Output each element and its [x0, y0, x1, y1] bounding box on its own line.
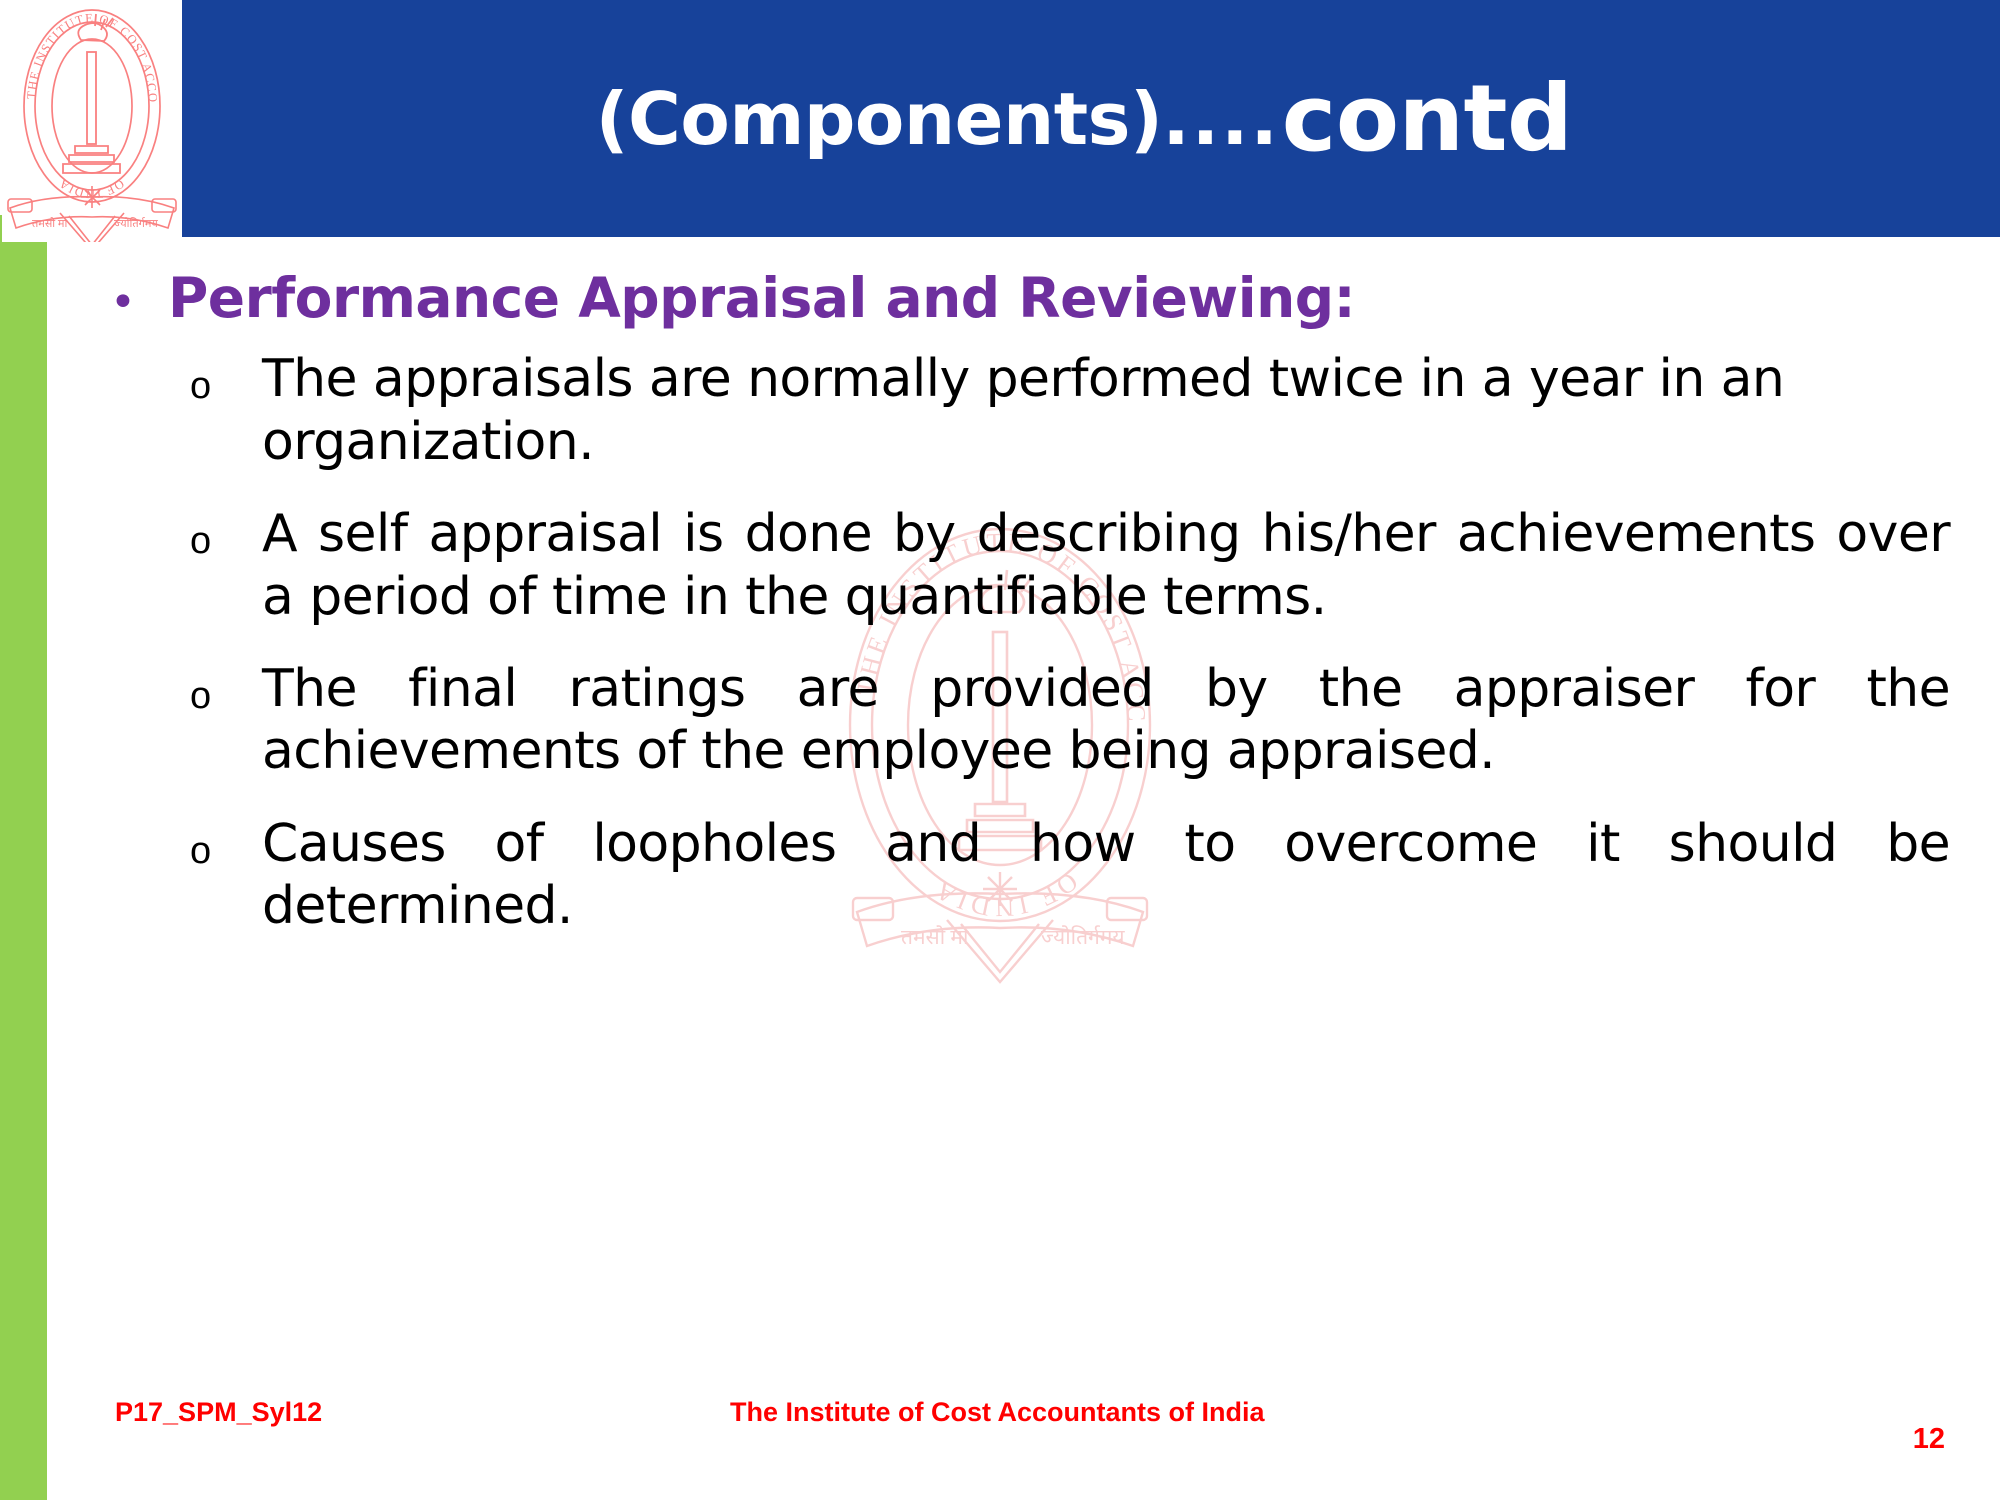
slide-footer: P17_SPM_Syl12 The Institute of Cost Acco… — [0, 1375, 2000, 1500]
bullet-circle-icon: o — [190, 658, 262, 719]
slide-title-main: (Components) — [596, 83, 1163, 155]
slide-body: • Performance Appraisal and Reviewing: o… — [0, 237, 2000, 1377]
svg-text:तमसो मा: तमसो मा — [32, 217, 67, 230]
footer-page-number: 12 — [1913, 1423, 1945, 1456]
bullet-circle-icon: o — [190, 813, 262, 874]
slide-header-bar: (Components)....contd — [168, 0, 2000, 237]
lead-heading: Performance Appraisal and Reviewing: — [168, 269, 1355, 328]
list-item: o Causes of loopholes and how to overcom… — [190, 813, 1950, 938]
list-item-text: The final ratings are provided by the ap… — [262, 658, 1950, 783]
slide-title: (Components)....contd — [168, 0, 2000, 237]
bullet-circle-icon: o — [190, 348, 262, 409]
bullet-dot-icon: • — [110, 269, 168, 325]
list-item-text: The appraisals are normally performed tw… — [262, 348, 1950, 473]
institute-logo-icon: THE INSTITUTE OF COST ACCOUNTANTS OF IND… — [2, 0, 182, 242]
list-item: o A self appraisal is done by describing… — [190, 503, 1950, 628]
footer-subject-code: P17_SPM_Syl12 — [115, 1397, 322, 1428]
bullet-circle-icon: o — [190, 503, 262, 564]
slide-title-dots: .... — [1162, 83, 1279, 155]
sub-bullet-list: o The appraisals are normally performed … — [190, 348, 1950, 937]
svg-text:ज्योतिर्गमय: ज्योतिर्गमय — [114, 217, 158, 230]
slide: THE INSTITUTE OF COST ACCOUNTANTS OF IND… — [0, 0, 2000, 1500]
list-item: o The appraisals are normally performed … — [190, 348, 1950, 473]
list-item-text: A self appraisal is done by describing h… — [262, 503, 1950, 628]
list-item: o The final ratings are provided by the … — [190, 658, 1950, 783]
slide-title-contd: contd — [1282, 73, 1573, 165]
footer-institute-name: The Institute of Cost Accountants of Ind… — [730, 1397, 1265, 1428]
list-item-text: Causes of loopholes and how to overcome … — [262, 813, 1950, 938]
lead-bullet-row: • Performance Appraisal and Reviewing: — [110, 269, 2000, 328]
